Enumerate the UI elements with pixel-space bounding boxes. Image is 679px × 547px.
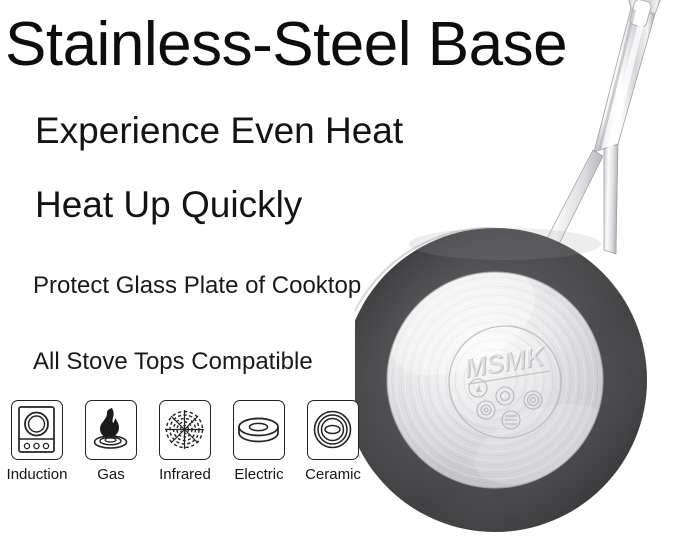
stove-type-electric: Electric [222,400,296,483]
induction-cooktop-icon [11,400,63,460]
benefit-line-4: All Stove Tops Compatible [33,350,313,374]
ceramic-hob-icon [307,400,359,460]
electric-coil-icon [233,400,285,460]
benefit-line-1: Experience Even Heat [35,112,403,149]
stove-type-label: Electric [222,466,296,483]
benefit-line-3: Protect Glass Plate of Cooktop [33,274,361,298]
benefit-line-2: Heat Up Quickly [35,186,302,223]
frying-pan-image: MSMK MSMK [355,0,679,547]
stove-type-gas: Gas [74,400,148,483]
infrared-burner-icon [159,400,211,460]
pan-handle [541,0,661,260]
gas-flame-icon [85,400,137,460]
stove-type-label: Induction [0,466,74,483]
stove-type-label: Gas [74,466,148,483]
stove-type-label: Infrared [148,466,222,483]
stove-compatibility-strip: Induction Gas [0,400,380,495]
stove-type-ceramic: Ceramic [296,400,370,483]
stove-type-induction: Induction [0,400,74,483]
product-infographic: Stainless-Steel Base Experience Even Hea… [0,0,679,547]
stove-type-infrared: Infrared [148,400,222,483]
base-logo-medallion: MSMK MSMK [449,326,561,438]
stove-type-label: Ceramic [296,466,370,483]
